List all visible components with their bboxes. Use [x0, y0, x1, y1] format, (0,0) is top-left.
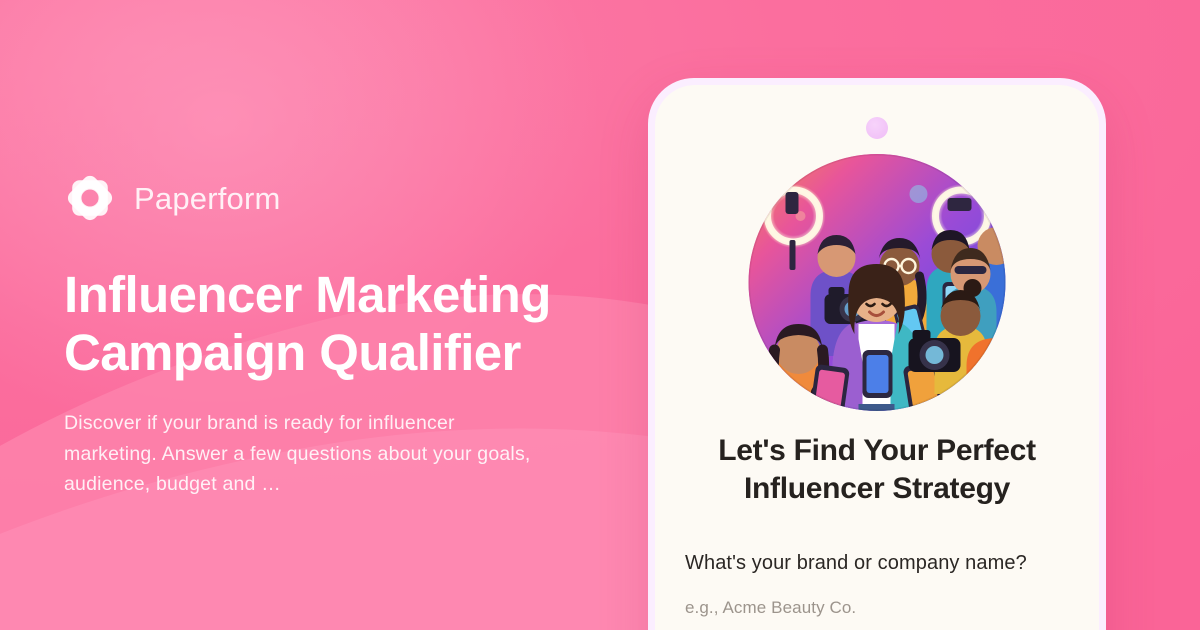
phone-mockup: Let's Find Your Perfect Influencer Strat… — [648, 78, 1106, 630]
brand-name-input[interactable]: e.g., Acme Beauty Co. — [685, 598, 1069, 630]
hero-text-column: Paperform Influencer Marketing Campaign … — [64, 168, 624, 499]
paperform-flower-logo-icon — [64, 172, 116, 224]
form-title: Let's Find Your Perfect Influencer Strat… — [685, 432, 1069, 509]
front-camera-dot-icon — [866, 117, 888, 139]
question-label: What's your brand or company name? — [685, 552, 1069, 575]
brand-name: Paperform — [134, 183, 281, 214]
influencer-group-illustration — [749, 154, 1006, 411]
page-title: Influencer Marketing Campaign Qualifier — [64, 266, 624, 382]
phone-screen: Let's Find Your Perfect Influencer Strat… — [655, 85, 1099, 630]
page-description: Discover if your brand is ready for infl… — [64, 408, 534, 499]
brand-lockup: Paperform — [64, 168, 624, 228]
